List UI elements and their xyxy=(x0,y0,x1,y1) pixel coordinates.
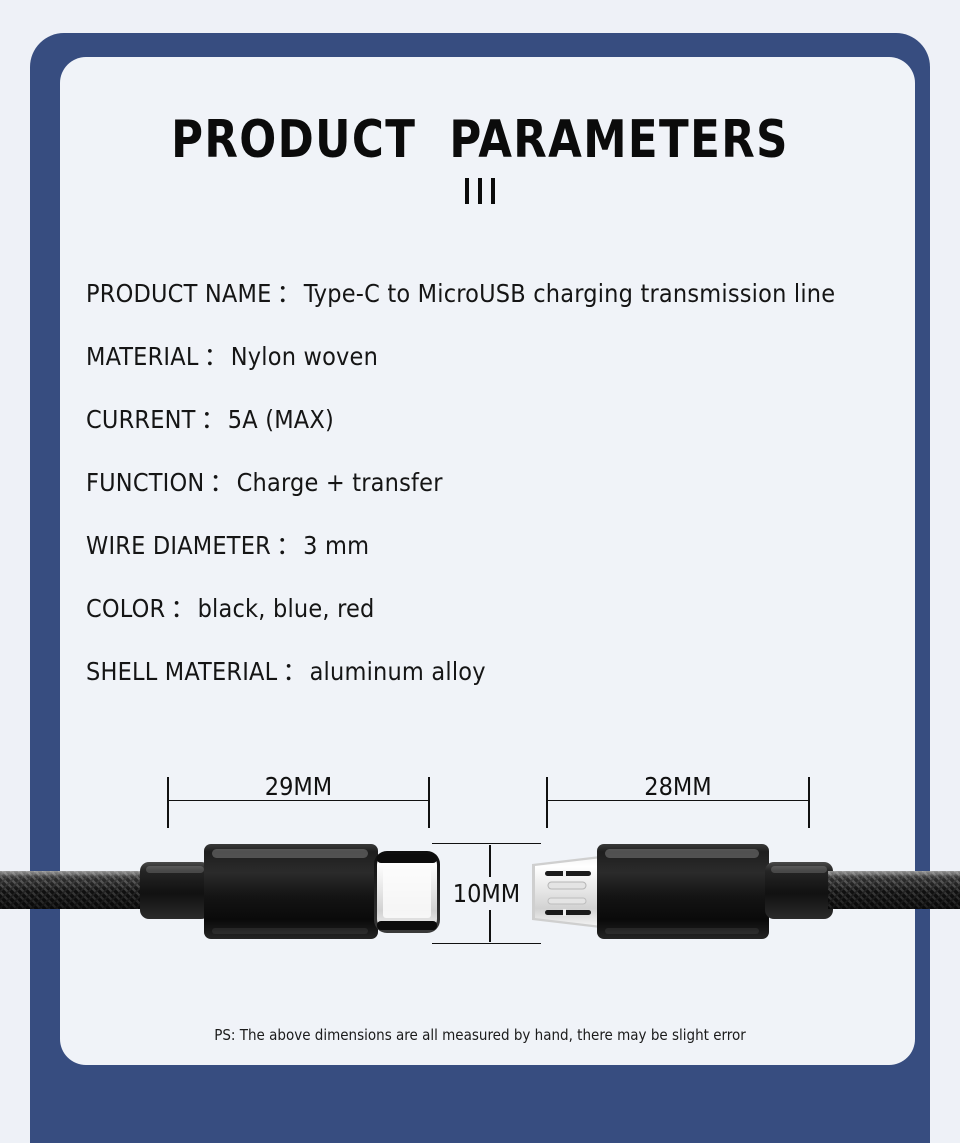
divider-bar xyxy=(491,178,495,204)
page-title: PRODUCT PARAMETERS xyxy=(34,110,927,170)
spec-value: 5A (MAX) xyxy=(228,407,334,432)
spec-colon: ： xyxy=(277,659,309,684)
spec-list: PRODUCT NAME ： Type-C to MicroUSB chargi… xyxy=(86,262,886,703)
spec-value: Charge + transfer xyxy=(237,470,443,495)
spec-value: aluminum alloy xyxy=(310,659,486,684)
product-parameters-infographic: PRODUCT PARAMETERS PRODUCT NAME ： Type-C… xyxy=(0,0,960,1102)
spec-label: MATERIAL xyxy=(86,344,199,369)
spec-label: WIRE DIAMETER xyxy=(86,533,271,558)
spec-row-color: COLOR ： black, blue, red xyxy=(86,577,886,640)
spec-row-product-name: PRODUCT NAME ： Type-C to MicroUSB chargi… xyxy=(86,262,886,325)
spec-colon: ： xyxy=(271,533,303,558)
spec-colon: ： xyxy=(199,344,231,369)
spec-colon: ： xyxy=(196,407,228,432)
spec-colon: ： xyxy=(165,596,197,621)
spec-label: COLOR xyxy=(86,596,165,621)
spec-row-wire-diameter: WIRE DIAMETER ： 3 mm xyxy=(86,514,886,577)
spec-label: PRODUCT NAME xyxy=(86,281,271,306)
spec-value: black, blue, red xyxy=(198,596,375,621)
spec-row-shell-material: SHELL MATERIAL ： aluminum alloy xyxy=(86,640,886,703)
divider-bar xyxy=(478,178,482,204)
spec-row-function: FUNCTION ： Charge + transfer xyxy=(86,451,886,514)
title-divider xyxy=(0,178,960,204)
footnote: PS: The above dimensions are all measure… xyxy=(0,1026,960,1044)
divider-bar xyxy=(465,178,469,204)
spec-colon: ： xyxy=(204,470,236,495)
spec-value: Nylon woven xyxy=(231,344,378,369)
spec-label: SHELL MATERIAL xyxy=(86,659,277,684)
spec-label: FUNCTION xyxy=(86,470,204,495)
spec-row-material: MATERIAL ： Nylon woven xyxy=(86,325,886,388)
spec-row-current: CURRENT ： 5A (MAX) xyxy=(86,388,886,451)
spec-value: Type-C to MicroUSB charging transmission… xyxy=(304,281,836,306)
spec-label: CURRENT xyxy=(86,407,196,432)
spec-colon: ： xyxy=(271,281,303,306)
spec-value: 3 mm xyxy=(303,533,369,558)
